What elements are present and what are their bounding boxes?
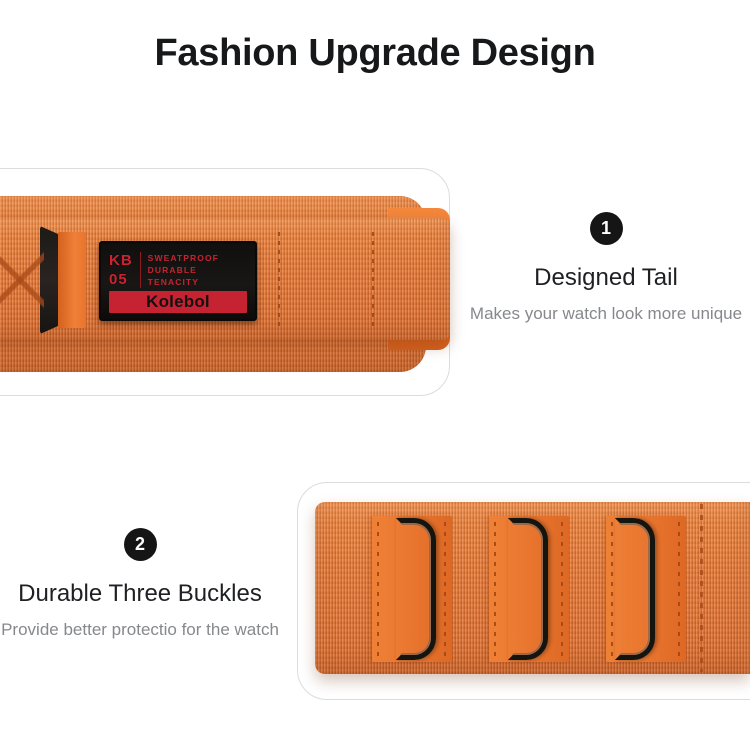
- infographic-page: Fashion Upgrade Design KB 05 SWEATPROOF …: [0, 0, 750, 750]
- label-upper-row: KB 05 SWEATPROOF DURABLE TENACITY: [109, 250, 247, 291]
- strap-stitch-line-left: [278, 232, 280, 328]
- strap-stitch-line-right: [372, 232, 374, 328]
- feature-three-buckles: 2 Durable Three Buckles Provide better p…: [0, 528, 280, 642]
- woven-brand-label: KB 05 SWEATPROOF DURABLE TENACITY Kolebo…: [99, 241, 257, 321]
- buckle-2-highlight: [512, 523, 543, 655]
- strap-end-seam: [700, 504, 703, 672]
- strap-keeper-fold: [58, 232, 86, 328]
- feature-designed-tail: 1 Designed Tail Makes your watch look mo…: [462, 212, 750, 326]
- brand-name: Kolebol: [146, 293, 210, 310]
- strap-x-stitching: [0, 240, 44, 320]
- label-claim-sweatproof: SWEATPROOF: [148, 252, 219, 264]
- buckle-3-highlight: [619, 523, 650, 655]
- buckle-1-highlight: [400, 523, 431, 655]
- label-claim-durable: DURABLE: [148, 264, 219, 276]
- feature-description-2: Provide better protectio for the watch: [0, 618, 280, 642]
- label-code-line-2: 05: [109, 270, 133, 289]
- label-product-code: KB 05: [109, 251, 133, 289]
- label-divider: [140, 252, 141, 288]
- feature-description-1: Makes your watch look more unique: [462, 302, 750, 326]
- feature-heading-2: Durable Three Buckles: [0, 579, 280, 609]
- page-title: Fashion Upgrade Design: [0, 32, 750, 75]
- label-brand-bar: Kolebol: [109, 291, 247, 313]
- label-code-line-1: KB: [109, 251, 133, 270]
- feature-heading-1: Designed Tail: [462, 263, 750, 293]
- label-claim-tenacity: TENACITY: [148, 276, 219, 288]
- label-claims: SWEATPROOF DURABLE TENACITY: [148, 252, 219, 288]
- feature-badge-1: 1: [590, 212, 623, 245]
- feature-badge-2: 2: [124, 528, 157, 561]
